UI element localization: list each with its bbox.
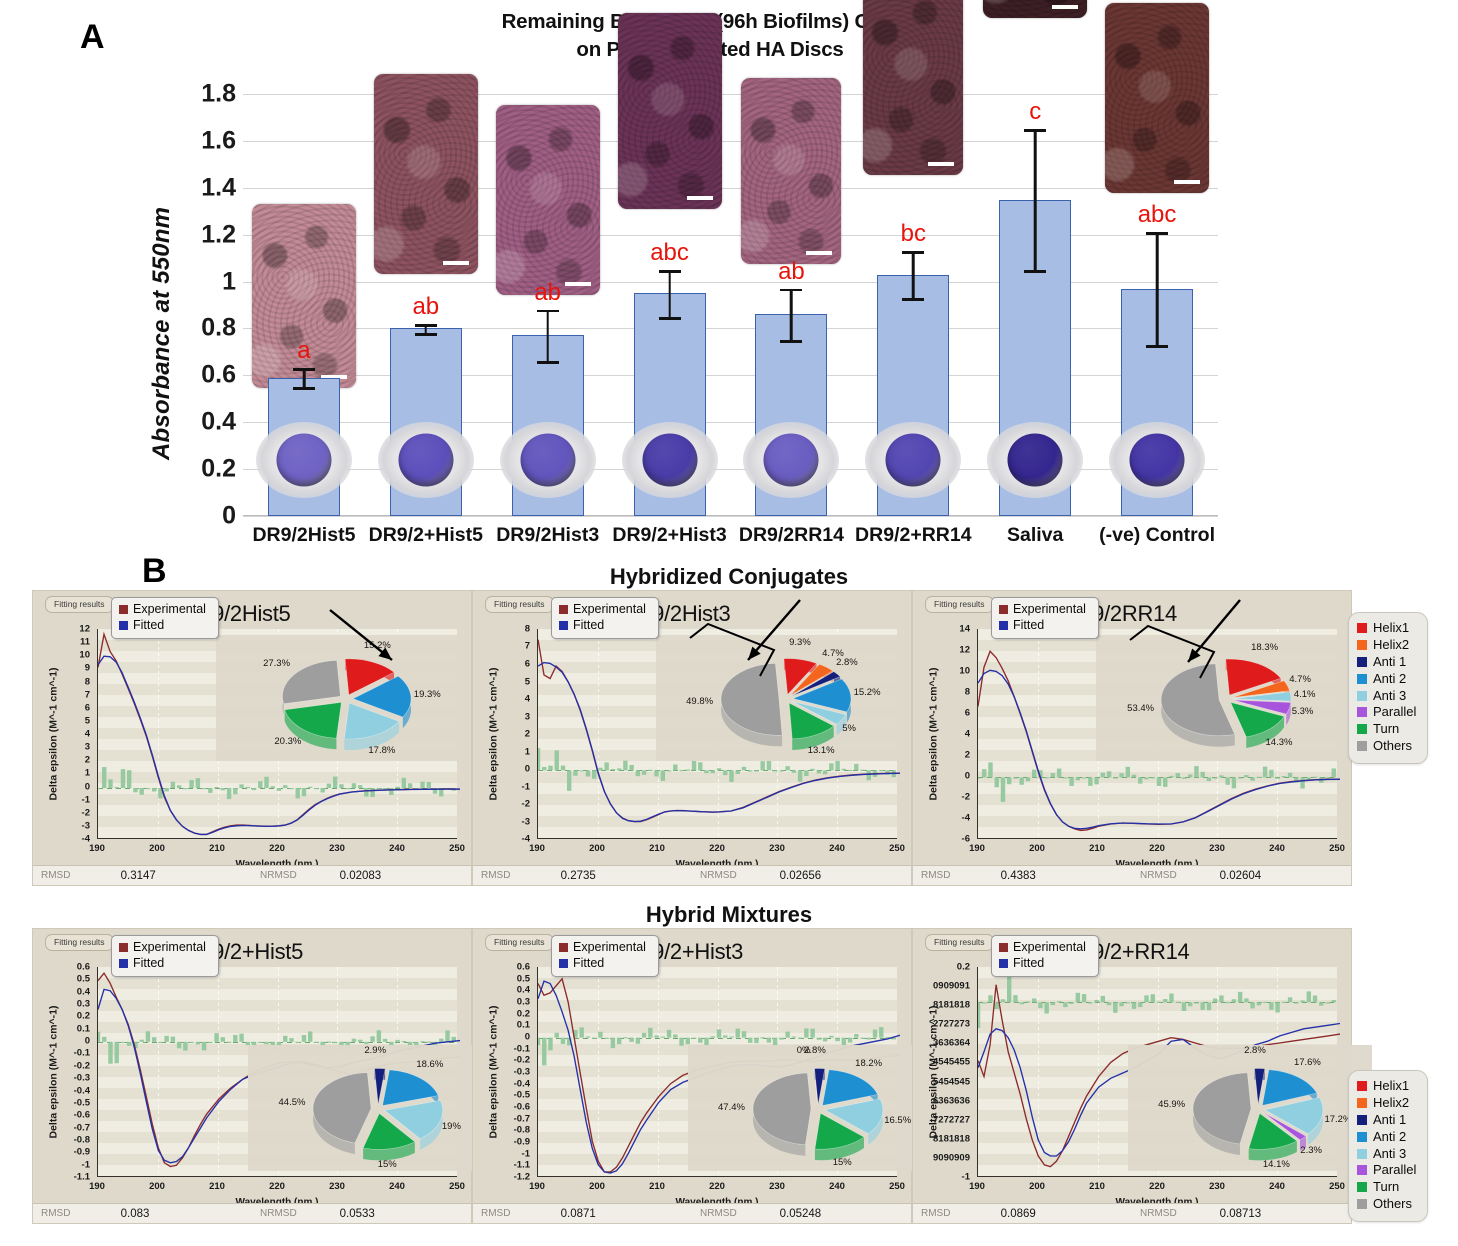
cd-y-tick-label: 6 <box>525 658 530 669</box>
pie-percentage-label: 2.8% <box>804 1045 826 1056</box>
y-tick-label: 0.4 <box>201 408 236 437</box>
structure-legend-swatch <box>1357 1149 1367 1159</box>
fitting-results-button[interactable]: Fitting results <box>45 934 114 951</box>
cd-y-tick-label: 0.2 <box>77 1011 90 1022</box>
cd-y-tick-label: -0.1 <box>514 1043 530 1054</box>
cd-x-tick-label: 230 <box>1209 843 1225 854</box>
structure-legend-bottom: Helix1Helix2Anti 1Anti 2Anti 3ParallelTu… <box>1348 1070 1428 1222</box>
cd-y-tick-label: -0.3 <box>514 1067 530 1078</box>
cd-y-tick-label: 0.5 <box>77 974 90 985</box>
cd-y-tick-label: 6 <box>965 708 970 719</box>
cd-y-tick-label: 0.2 <box>957 962 970 973</box>
y-tick-label: 1.6 <box>201 126 236 155</box>
structure-legend-label: Helix1 <box>1373 620 1409 635</box>
cd-series-legend: ExperimentalFitted <box>111 935 219 977</box>
legend-row: Experimental <box>559 940 646 956</box>
cd-x-tick-label: 200 <box>149 843 165 854</box>
nrmsd-value: 0.0533 <box>340 1208 471 1220</box>
legend-label: Experimental <box>573 602 646 616</box>
cd-x-tick-label: 210 <box>1089 843 1105 854</box>
error-bar <box>1034 129 1037 270</box>
biofilm-micrograph <box>741 78 841 264</box>
cd-y-tick-label: -1 <box>82 794 90 805</box>
cd-y-tick-label: 0.1 <box>517 1020 530 1031</box>
structure-legend-row: Helix1 <box>1357 1078 1416 1095</box>
cd-y-tick-label: 8 <box>525 624 530 635</box>
legend-swatch <box>119 943 128 952</box>
legend-row: Fitted <box>999 956 1086 972</box>
ha-disc-photo <box>865 422 961 498</box>
cd-y-tick-label: 5 <box>525 676 530 687</box>
rmsd-value: 0.4383 <box>1001 870 1132 882</box>
structure-legend-label: Others <box>1373 738 1412 753</box>
legend-row: Experimental <box>999 940 1086 956</box>
fitting-results-button[interactable]: Fitting results <box>45 596 114 613</box>
disc-stained-area <box>276 434 331 487</box>
legend-row: Experimental <box>999 602 1086 618</box>
structure-legend-row: Anti 3 <box>1357 1146 1416 1163</box>
pie-percentage-label: 44.5% <box>279 1097 306 1108</box>
cd-x-tick-label: 190 <box>89 843 105 854</box>
cd-y-tick-label: 0 <box>85 1036 90 1047</box>
cd-x-tick-label: 240 <box>1269 843 1285 854</box>
disc-stained-area <box>764 434 819 487</box>
y-tick-label: 0 <box>222 502 236 531</box>
cd-series-legend: ExperimentalFitted <box>991 935 1099 977</box>
legend-label: Fitted <box>1013 618 1044 632</box>
structure-legend-row: Parallel <box>1357 704 1416 721</box>
cd-y-tick-label: 0 <box>525 1031 530 1042</box>
cd-plot-area: 18.3%4.7%4.1%5.3%14.3%53.4% <box>977 629 1337 839</box>
secondary-structure-pie-chart: 18.3%4.7%4.1%5.3%14.3%53.4% <box>1096 635 1340 761</box>
biofilm-micrograph <box>1105 3 1209 193</box>
cd-y-tick-label: 11 <box>80 637 90 648</box>
error-bar-cap-bottom <box>415 333 437 336</box>
y-tick-label: 1 <box>222 267 236 296</box>
cd-y-tick-label: 7 <box>525 641 530 652</box>
nrmsd-label: NRMSD <box>252 1208 340 1219</box>
rmsd-label: RMSD <box>33 1208 121 1219</box>
cd-x-tick-label: 220 <box>709 843 725 854</box>
error-bar <box>546 310 549 362</box>
gridline <box>243 516 1218 517</box>
rmsd-value: 0.0871 <box>561 1208 692 1220</box>
fitting-results-button[interactable]: Fitting results <box>485 596 554 613</box>
micrograph-texture <box>863 0 963 175</box>
cd-x-tick-label: 190 <box>529 1181 545 1192</box>
pie-percentage-label: 9.3% <box>789 637 811 648</box>
structure-legend-swatch <box>1357 741 1367 751</box>
scale-bar <box>565 282 591 286</box>
rmsd-value: 0.2735 <box>561 870 692 882</box>
legend-row: Fitted <box>119 618 206 634</box>
structure-legend-label: Helix2 <box>1373 1095 1409 1110</box>
structure-legend-row: Helix2 <box>1357 1095 1416 1112</box>
y-tick-label: 1.4 <box>201 173 236 202</box>
pie-percentage-label: 4.1% <box>1294 689 1316 700</box>
legend-swatch <box>559 605 568 614</box>
legend-label: Fitted <box>573 618 604 632</box>
cd-series-legend: ExperimentalFitted <box>111 597 219 639</box>
nrmsd-label: NRMSD <box>692 1208 780 1219</box>
cd-x-tick-label: 240 <box>829 843 845 854</box>
pie-percentage-label: 2.9% <box>364 1045 386 1056</box>
structure-legend-row: Turn <box>1357 1179 1416 1196</box>
ha-disc-photo <box>743 422 839 498</box>
nrmsd-label: NRMSD <box>252 870 340 881</box>
pie-percentage-label: 15% <box>378 1159 397 1170</box>
legend-swatch <box>559 621 568 630</box>
structure-legend-swatch <box>1357 1182 1367 1192</box>
legend-label: Fitted <box>1013 956 1044 970</box>
legend-swatch <box>119 605 128 614</box>
ha-disc-photo <box>1109 422 1205 498</box>
cd-x-tick-label: 240 <box>1269 1181 1285 1192</box>
structure-legend-label: Anti 3 <box>1373 1146 1406 1161</box>
legend-label: Experimental <box>133 602 206 616</box>
cd-x-tick-label: 220 <box>709 1181 725 1192</box>
cd-y-tick-label: 14 <box>959 624 970 635</box>
cd-y-tick-label: -2 <box>962 792 970 803</box>
x-axis-category-label: Saliva <box>1007 524 1063 547</box>
panel-a-letter: A <box>80 18 105 57</box>
nrmsd-value: 0.02083 <box>340 870 471 882</box>
cd-y-tick-label: 0.3 <box>517 996 530 1007</box>
cd-y-tick-label: 4 <box>85 729 90 740</box>
cd-x-tick-label: 220 <box>269 843 285 854</box>
nrmsd-label: NRMSD <box>1132 870 1220 881</box>
significance-letter: abc <box>650 239 689 267</box>
bar-group: cSaliva <box>974 94 1096 516</box>
structure-legend-label: Turn <box>1373 1179 1399 1194</box>
error-bar-cap-bottom <box>1146 345 1168 348</box>
legend-label: Experimental <box>573 940 646 954</box>
x-axis-category-label: (-ve) Control <box>1099 524 1215 547</box>
scale-bar <box>443 261 469 265</box>
cd-series-legend: ExperimentalFitted <box>551 935 659 977</box>
pie-slice <box>822 1070 877 1106</box>
pie-percentage-label: 15.2% <box>854 687 881 698</box>
significance-letter: abc <box>1138 201 1177 229</box>
structure-legend-swatch <box>1357 1098 1367 1108</box>
cd-x-tick-label: 230 <box>769 1181 785 1192</box>
legend-row: Experimental <box>119 940 206 956</box>
legend-label: Experimental <box>133 940 206 954</box>
panel-b-cd-spectra: B Hybridized Conjugates Hybrid Mixtures … <box>0 560 1458 1246</box>
rmsd-footer: RMSD0.0869NRMSD0.08713 <box>913 1203 1351 1223</box>
legend-row: Fitted <box>119 956 206 972</box>
legend-swatch <box>119 959 128 968</box>
cd-y-tick-label: -1.1 <box>74 1172 90 1183</box>
x-axis-category-label: DR9/2+Hist3 <box>612 524 726 547</box>
pie-percentage-label: 14.1% <box>1263 1159 1290 1170</box>
structure-legend-label: Parallel <box>1373 704 1416 719</box>
pie-percentage-label: 2.8% <box>836 657 858 668</box>
error-bar-cap-bottom <box>293 387 315 390</box>
pie-percentage-label: 17.6% <box>1294 1057 1321 1068</box>
cd-y-tick-label: 2 <box>525 729 530 740</box>
cd-x-tick-label: 210 <box>1089 1181 1105 1192</box>
cd-y-tick-label: -0.6 <box>514 1101 530 1112</box>
cd-y-tick-label: 2 <box>85 755 90 766</box>
structure-legend-swatch <box>1357 674 1367 684</box>
ha-disc-photo <box>622 422 718 498</box>
cd-spectrum-card: Fitting resultsDR9/2+RR140.2090909181818… <box>912 928 1352 1224</box>
cd-y-tick-label: 4 <box>965 729 970 740</box>
cd-spectrum-card: Fitting resultsDR9/2RR1414121086420-2-4-… <box>912 590 1352 886</box>
cd-x-tick-label: 230 <box>329 1181 345 1192</box>
cd-plot-area: 0%2.8%18.2%16.5%15%47.4% <box>537 967 897 1177</box>
cd-y-axis-title: Delta epsilon (M^-1 cm^-1) <box>48 667 60 800</box>
pie-percentage-label: 18.2% <box>855 1058 882 1069</box>
nrmsd-label: NRMSD <box>692 870 780 881</box>
nrmsd-value: 0.02604 <box>1220 870 1351 882</box>
cd-x-tick-label: 220 <box>1149 843 1165 854</box>
cd-y-tick-label: 10 <box>959 666 970 677</box>
secondary-structure-pie-chart: 2.8%17.6%17.2%2.3%14.1%45.9% <box>1128 1045 1372 1171</box>
scale-bar <box>1052 5 1078 9</box>
cd-y-tick-label: 9090909 <box>933 1152 970 1163</box>
cd-x-tick-label: 240 <box>389 1181 405 1192</box>
cd-y-tick-label: 5 <box>85 715 90 726</box>
cd-x-tick-label: 210 <box>209 1181 225 1192</box>
y-tick-label: 1.8 <box>201 80 236 109</box>
error-bar-cap-bottom <box>537 361 559 364</box>
cd-y-axis: 0.60.50.40.30.20.10-0.1-0.2-0.3-0.4-0.5-… <box>33 967 95 1177</box>
pie-percentage-label: 53.4% <box>1127 703 1154 714</box>
rmsd-label: RMSD <box>913 1208 1001 1219</box>
cd-y-tick-label: 9 <box>85 663 90 674</box>
cd-y-axis-title: Delta epsilon (M^-1 cm^-1) <box>928 667 940 800</box>
structure-legend-swatch <box>1357 1199 1367 1209</box>
error-bar-cap-bottom <box>1024 270 1046 273</box>
nrmsd-value: 0.05248 <box>780 1208 911 1220</box>
cd-y-tick-label: -0.4 <box>514 1078 530 1089</box>
cd-y-tick-label: -0.6 <box>74 1110 90 1121</box>
cd-plot-area: 9.3%4.7%2.8%15.2%5%13.1%49.8% <box>537 629 897 839</box>
structure-legend-row: Anti 3 <box>1357 688 1416 705</box>
pie-percentage-label: 15.2% <box>364 640 391 651</box>
bar-group: aDR9/2Hist5 <box>243 94 365 516</box>
cd-plot-area: 2.8%17.6%17.2%2.3%14.1%45.9% <box>977 967 1337 1177</box>
y-tick-label: 0.8 <box>201 314 236 343</box>
cd-spectrum-card: Fitting resultsDR9/2+Hist50.60.50.40.30.… <box>32 928 472 1224</box>
structure-legend-label: Helix1 <box>1373 1078 1409 1093</box>
structure-legend-row: Turn <box>1357 721 1416 738</box>
cd-y-tick-label: 3 <box>85 742 90 753</box>
cd-y-tick-label: 0.1 <box>77 1023 90 1034</box>
error-bar-cap-top <box>293 368 315 371</box>
rmsd-footer: RMSD0.2735NRMSD0.02656 <box>473 865 911 885</box>
error-bar <box>912 251 915 298</box>
cd-x-tick-label: 200 <box>1029 1181 1045 1192</box>
disc-stained-area <box>1130 434 1185 487</box>
section-title-hybrid-mixtures: Hybrid Mixtures <box>0 902 1458 928</box>
bar-group: abDR9/2+Hist5 <box>365 94 487 516</box>
fitting-results-button[interactable]: Fitting results <box>925 596 994 613</box>
pie-percentage-label: 45.9% <box>1158 1099 1185 1110</box>
cd-y-tick-label: -0.1 <box>74 1048 90 1059</box>
pie-percentage-label: 15% <box>833 1157 852 1168</box>
pie-slice <box>282 660 340 703</box>
cd-y-tick-label: 0.4 <box>77 986 90 997</box>
cd-y-axis-title: Delta epsilon (M^-1 cm^-1) <box>928 1005 940 1138</box>
cd-x-tick-label: 190 <box>969 1181 985 1192</box>
pie-slice <box>383 1070 439 1106</box>
error-bar-cap-bottom <box>902 298 924 301</box>
cd-x-tick-label: 200 <box>1029 843 1045 854</box>
cd-x-axis: 190200210220230240250 <box>537 843 897 857</box>
structure-legend-label: Anti 1 <box>1373 654 1406 669</box>
cd-y-tick-label: 0.6 <box>517 962 530 973</box>
cd-y-tick-label: -0.3 <box>74 1073 90 1084</box>
cd-y-tick-label: -0.9 <box>74 1147 90 1158</box>
significance-letter: ab <box>534 279 561 307</box>
biofilm-micrograph <box>863 0 963 175</box>
cd-y-tick-label: 0 <box>85 781 90 792</box>
cd-x-axis: 190200210220230240250 <box>97 1181 457 1195</box>
ha-disc-photo <box>500 422 596 498</box>
legend-label: Experimental <box>1013 940 1086 954</box>
cd-x-tick-label: 210 <box>209 843 225 854</box>
disc-stained-area <box>886 434 941 487</box>
cd-y-tick-label: -0.8 <box>74 1134 90 1145</box>
micrograph-texture <box>983 0 1087 18</box>
pie-percentage-label: 2.8% <box>1244 1045 1266 1056</box>
error-bar-cap-top <box>1146 232 1168 235</box>
legend-label: Experimental <box>1013 602 1086 616</box>
pie-percentage-label: 14.3% <box>1266 737 1293 748</box>
ha-disc-photo <box>378 422 474 498</box>
cd-y-tick-label: 0.2 <box>517 1008 530 1019</box>
rmsd-label: RMSD <box>33 870 121 881</box>
error-bar-cap-top <box>902 251 924 254</box>
cd-y-tick-label: -4 <box>962 813 970 824</box>
error-bar <box>790 289 793 341</box>
legend-swatch <box>119 621 128 630</box>
significance-letter: ab <box>412 293 439 321</box>
cd-x-axis: 190200210220230240250 <box>977 1181 1337 1195</box>
structure-legend-label: Parallel <box>1373 1162 1416 1177</box>
cd-spectrum-card: Fitting resultsDR9/2Hist3876543210-1-2-3… <box>472 590 912 886</box>
fitting-results-button[interactable]: Fitting results <box>485 934 554 951</box>
rmsd-footer: RMSD0.3147NRMSD0.02083 <box>33 865 471 885</box>
x-axis-category-label: DR9/2RR14 <box>739 524 844 547</box>
secondary-structure-pie-chart: 2.9%18.6%19%15%44.5% <box>248 1045 492 1171</box>
error-bar-cap-bottom <box>780 340 802 343</box>
pie-slice <box>815 1069 825 1105</box>
cd-spectrum-card: Fitting resultsDR9/2Hist5121110987654321… <box>32 590 472 886</box>
cd-y-tick-label: 0.3 <box>77 999 90 1010</box>
structure-legend-swatch <box>1357 640 1367 650</box>
pie-percentage-label: 19.3% <box>414 689 441 700</box>
structure-legend-row: Anti 2 <box>1357 1129 1416 1146</box>
error-bar-cap-top <box>659 270 681 273</box>
cd-x-tick-label: 240 <box>389 843 405 854</box>
cd-x-tick-label: 250 <box>449 843 465 854</box>
secondary-structure-pie-chart: 15.2%19.3%17.8%20.3%27.3% <box>216 635 460 761</box>
nrmsd-value: 0.08713 <box>1220 1208 1351 1220</box>
rmsd-label: RMSD <box>473 870 561 881</box>
pie-percentage-label: 17.8% <box>368 745 395 756</box>
structure-legend-label: Anti 1 <box>1373 1112 1406 1127</box>
bar-group: abcDR9/2+Hist3 <box>609 94 731 516</box>
pie-percentage-label: 47.4% <box>718 1102 745 1113</box>
y-tick-label: 0.6 <box>201 361 236 390</box>
structure-legend-row: Anti 1 <box>1357 1112 1416 1129</box>
micrograph-texture <box>618 13 722 209</box>
structure-legend-swatch <box>1357 623 1367 633</box>
scale-bar <box>928 162 954 166</box>
scale-bar <box>687 196 713 200</box>
cd-y-tick-label: -3 <box>82 820 90 831</box>
significance-letter: bc <box>901 220 926 248</box>
error-bar <box>1156 232 1159 345</box>
structure-legend-swatch <box>1357 1081 1367 1091</box>
pie-percentage-label: 18.6% <box>416 1059 443 1070</box>
cd-y-axis-title: Delta epsilon (M^-1 cm^-1) <box>488 667 500 800</box>
cd-y-tick-label: 0909091 <box>933 981 970 992</box>
structure-legend-swatch <box>1357 1115 1367 1125</box>
pie-percentage-label: 20.3% <box>274 736 301 747</box>
cd-y-tick-label: -0.7 <box>514 1113 530 1124</box>
cd-y-tick-label: 12 <box>959 645 970 656</box>
cd-y-tick-label: 10 <box>79 650 90 661</box>
cd-x-tick-label: 230 <box>769 843 785 854</box>
biofilm-micrograph <box>618 13 722 209</box>
cd-y-tick-label: 3 <box>525 711 530 722</box>
fitting-results-button[interactable]: Fitting results <box>925 934 994 951</box>
disc-stained-area <box>398 434 453 487</box>
legend-swatch <box>999 959 1008 968</box>
cd-series-legend: ExperimentalFitted <box>991 597 1099 639</box>
cd-x-tick-label: 250 <box>1329 843 1345 854</box>
legend-swatch <box>999 605 1008 614</box>
cd-y-tick-label: 12 <box>79 624 90 635</box>
structure-legend-row: Others <box>1357 738 1416 755</box>
cd-y-tick-label: -0.5 <box>74 1097 90 1108</box>
structure-legend-swatch <box>1357 724 1367 734</box>
cd-y-tick-label: 8 <box>85 676 90 687</box>
cd-x-tick-label: 210 <box>649 1181 665 1192</box>
cd-y-axis-title: Delta epsilon (M^-1 cm^-1) <box>488 1005 500 1138</box>
structure-legend-top: Helix1Helix2Anti 1Anti 2Anti 3ParallelTu… <box>1348 612 1428 764</box>
legend-label: Fitted <box>573 956 604 970</box>
panel-a-bar-chart: A Remaining Bioburden (96h Biofilms) Gro… <box>0 0 1458 560</box>
cd-y-axis: 0.20909091818181827272733636364454545554… <box>913 967 975 1177</box>
cd-x-tick-label: 250 <box>449 1181 465 1192</box>
cd-y-axis: 0.60.50.40.30.20.10-0.1-0.2-0.3-0.4-0.5-… <box>473 967 535 1177</box>
rmsd-footer: RMSD0.0871NRMSD0.05248 <box>473 1203 911 1223</box>
pie-percentage-label: 49.8% <box>686 696 713 707</box>
bar-group: abDR9/2Hist3 <box>487 94 609 516</box>
scale-bar <box>1174 180 1200 184</box>
pie-percentage-label: 5.3% <box>1292 706 1314 717</box>
cd-y-tick-label: -0.2 <box>514 1055 530 1066</box>
cd-y-tick-label: 7 <box>85 689 90 700</box>
cd-plot-area: 2.9%18.6%19%15%44.5% <box>97 967 457 1177</box>
secondary-structure-pie-chart: 0%2.8%18.2%16.5%15%47.4% <box>688 1045 932 1171</box>
micrograph-texture <box>741 78 841 264</box>
cd-y-tick-label: -2 <box>82 807 90 818</box>
cd-y-tick-label: 0.6 <box>77 962 90 973</box>
cd-x-axis: 190200210220230240250 <box>977 843 1337 857</box>
x-axis-category-label: DR9/2Hist3 <box>496 524 599 547</box>
cd-x-tick-label: 230 <box>1209 1181 1225 1192</box>
micrograph-texture <box>1105 3 1209 193</box>
cd-y-tick-label: -2 <box>522 799 530 810</box>
cd-spectrum-card: Fitting resultsDR9/2+Hist30.60.50.40.30.… <box>472 928 912 1224</box>
